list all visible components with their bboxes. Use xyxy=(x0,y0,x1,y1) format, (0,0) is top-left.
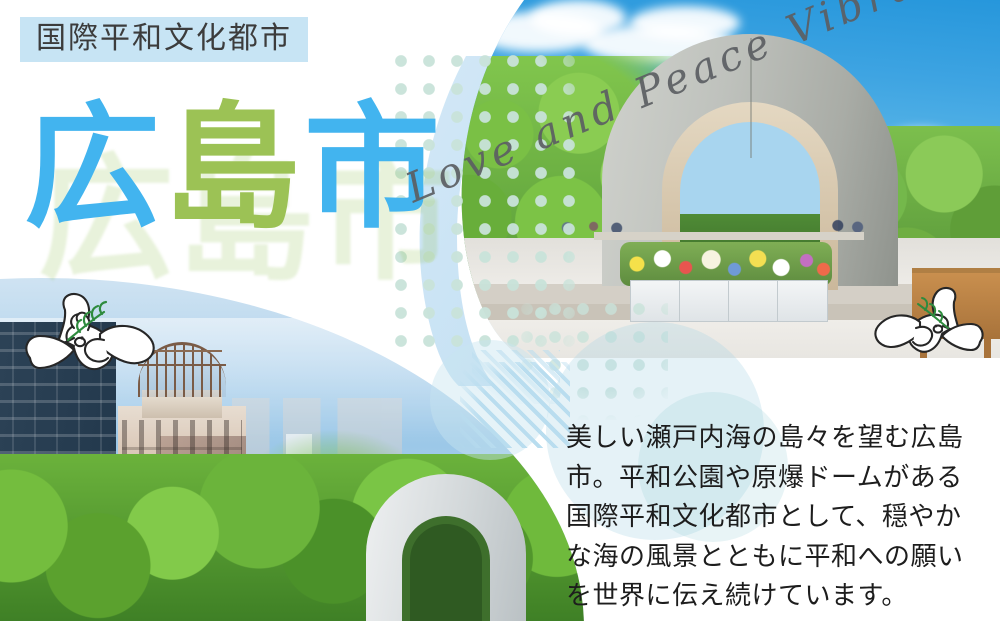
offering-box xyxy=(630,280,828,322)
kicker-label: 国際平和文化都市 xyxy=(20,17,308,62)
hiroshima-city-banner: 広島市 国際平和文化都市 広島市 Love and Peace Vibratio… xyxy=(0,0,1000,621)
stone-rail xyxy=(594,232,864,240)
dove-with-olive-branch-icon xyxy=(856,284,988,372)
dove-with-olive-branch-icon xyxy=(18,288,186,396)
memorial-cenotaph-arch xyxy=(366,474,526,621)
page-title: 広島市 xyxy=(24,100,444,236)
title-char-2: 島 xyxy=(164,92,304,244)
title-char-1: 広 xyxy=(24,92,164,244)
lead-paragraph: 美しい瀬戸内海の島々を望む広島市。平和公園や原爆ドームがある国際平和文化都市とし… xyxy=(566,418,986,616)
